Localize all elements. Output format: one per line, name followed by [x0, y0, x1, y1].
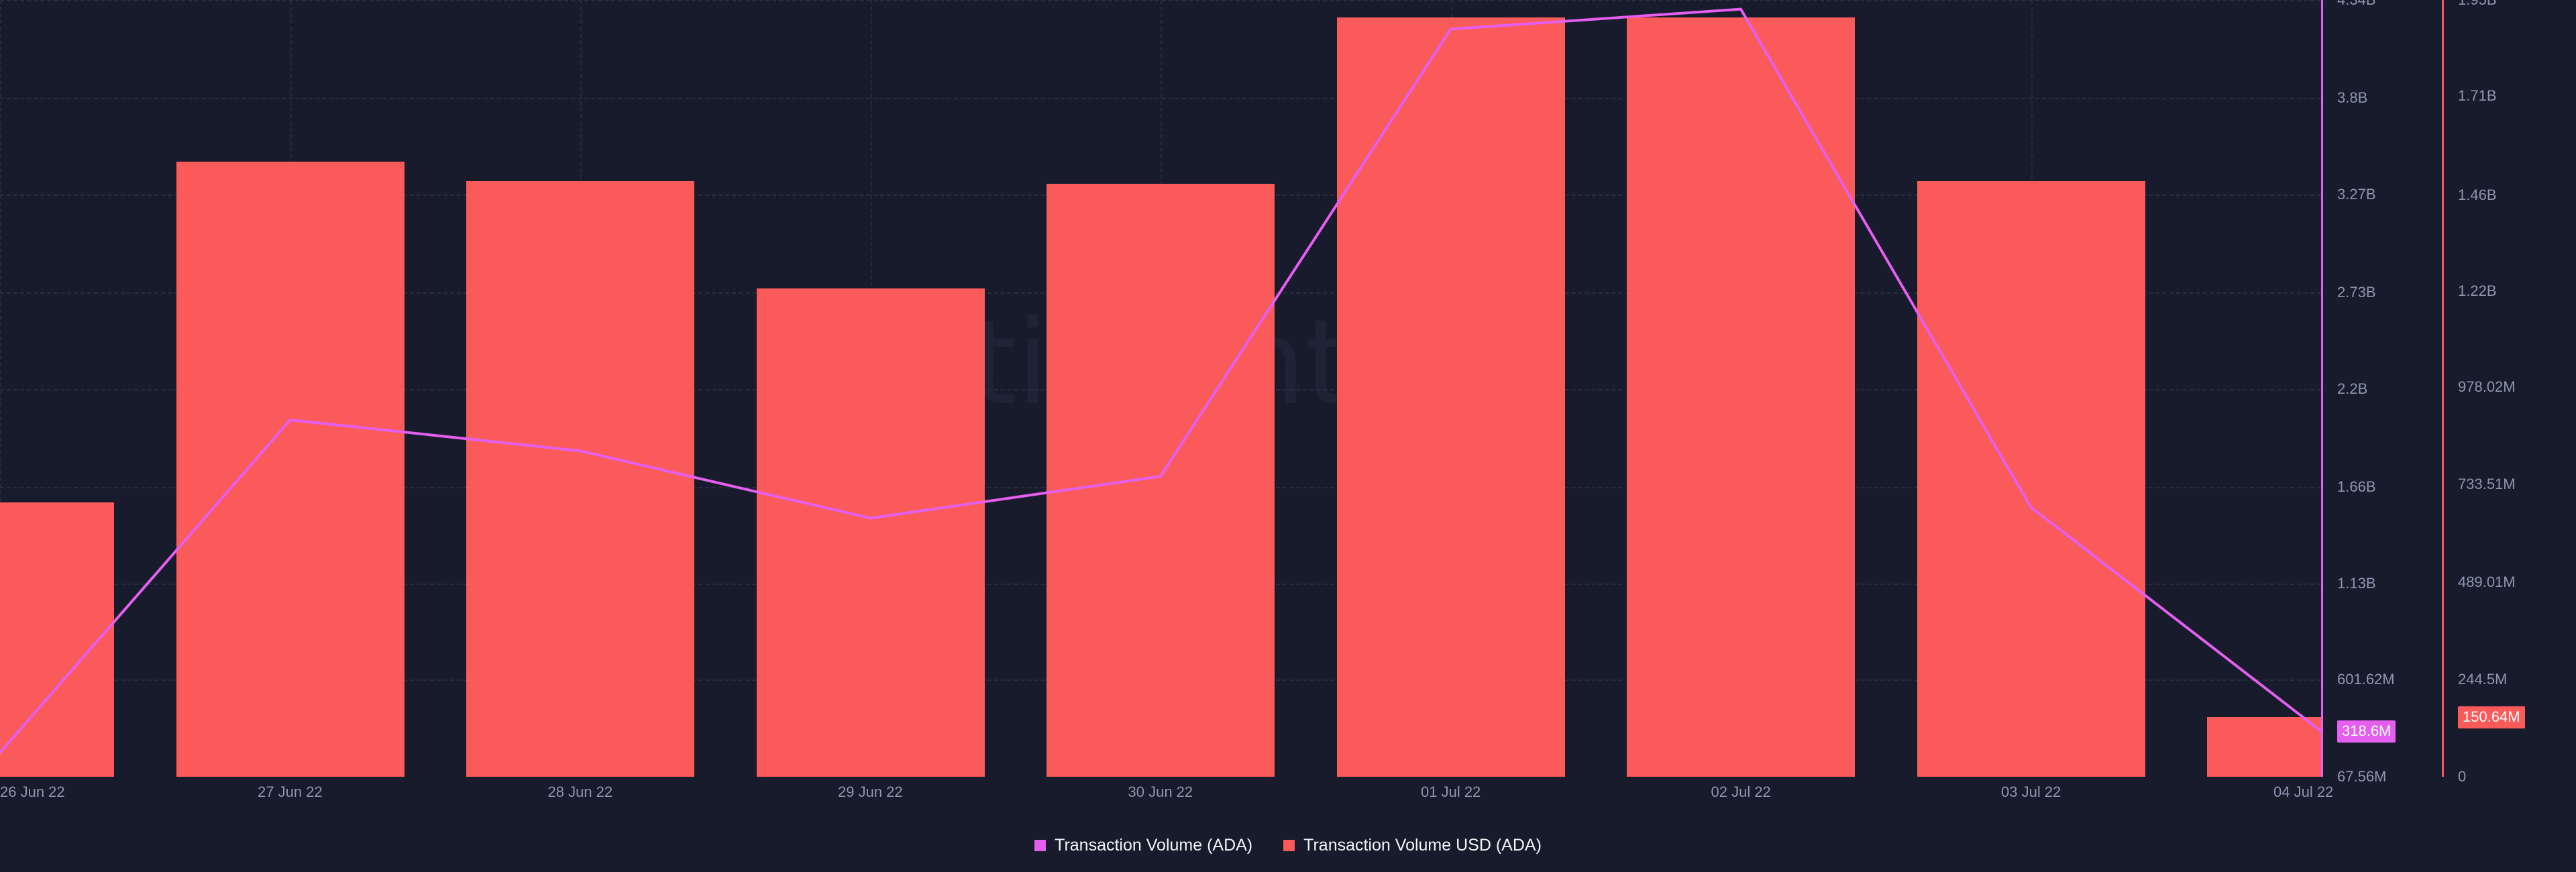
- legend: Transaction Volume (ADA) Transaction Vol…: [0, 837, 2576, 854]
- axis-tick-label: 1.66B: [2337, 480, 2376, 494]
- axis-tick-label: 2.2B: [2337, 382, 2367, 396]
- axis-tick-label: 489.01M: [2458, 575, 2516, 590]
- axis-tick-label: 2.73B: [2337, 285, 2376, 300]
- right-axis-value-badge: 150.64M: [2458, 706, 2525, 728]
- axis-tick-label: 733.51M: [2458, 477, 2516, 492]
- x-axis-label: 04 Jul 22: [2273, 785, 2333, 800]
- axis-tick-label: 601.62M: [2337, 672, 2395, 687]
- legend-swatch-icon: [1034, 840, 1046, 851]
- axis-tick-label: 1.22B: [2458, 284, 2497, 298]
- axis-tick-label: 244.5M: [2458, 672, 2507, 687]
- axis-tick-label: 4.34B: [2337, 0, 2376, 7]
- axis-tick-label: 0: [2458, 769, 2466, 784]
- x-axis-label: 29 Jun 22: [838, 785, 903, 800]
- x-axis-label: 01 Jul 22: [1421, 785, 1481, 800]
- chart-root: santiment 4.34B3.8B3.27B2.73B2.2B1.66B1.…: [0, 0, 2576, 872]
- legend-label: Transaction Volume (ADA): [1055, 837, 1252, 854]
- axis-tick-label: 3.8B: [2337, 91, 2367, 105]
- axis-tick-label: 1.71B: [2458, 89, 2497, 103]
- legend-label: Transaction Volume USD (ADA): [1303, 837, 1542, 854]
- left-axis-line: [2321, 0, 2323, 777]
- x-axis-label: 26 Jun 22: [0, 785, 65, 800]
- x-axis-label: 30 Jun 22: [1128, 785, 1193, 800]
- axis-tick-label: 3.27B: [2337, 187, 2376, 202]
- line-series-transaction-volume-ada: [0, 0, 2321, 777]
- right-axis-line: [2442, 0, 2444, 777]
- axis-tick-label: 1.13B: [2337, 576, 2376, 591]
- axis-tick-label: 1.95B: [2458, 0, 2497, 7]
- x-axis-label: 27 Jun 22: [258, 785, 323, 800]
- legend-item-transaction-volume-usd-ada[interactable]: Transaction Volume USD (ADA): [1283, 837, 1542, 854]
- axis-tick-label: 1.46B: [2458, 188, 2497, 203]
- left-axis-value-badge: 318.6M: [2337, 720, 2396, 743]
- legend-swatch-icon: [1283, 840, 1295, 851]
- x-axis-label: 02 Jul 22: [1711, 785, 1771, 800]
- legend-item-transaction-volume-ada[interactable]: Transaction Volume (ADA): [1034, 837, 1252, 854]
- axis-tick-label: 978.02M: [2458, 380, 2516, 394]
- plot-area[interactable]: santiment: [0, 0, 2321, 777]
- axis-tick-label: 67.56M: [2337, 769, 2386, 784]
- x-axis-label: 03 Jul 22: [2001, 785, 2061, 800]
- x-axis-label: 28 Jun 22: [548, 785, 613, 800]
